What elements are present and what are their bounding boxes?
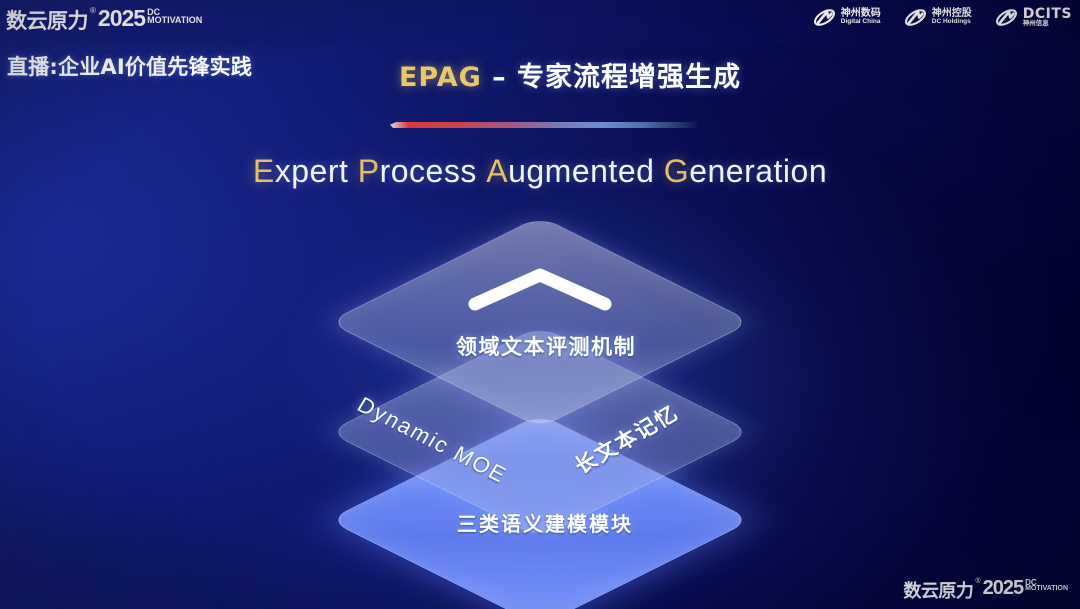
partner-logo-group: 神州数码 Digital China 神州控股 DC Holdings DCIT… <box>812 5 1072 30</box>
partner-name-cn: 神州信息 <box>1023 21 1072 28</box>
subtitle-word-generation: eneration <box>689 153 827 189</box>
swoosh-icon <box>994 5 1019 30</box>
subtitle-word-expert: xpert <box>275 153 349 189</box>
partner-logo-digital-china: 神州数码 Digital China <box>812 5 881 30</box>
brand-year: 2025 <box>983 577 1024 600</box>
diagram-label-bottom: 三类语义建模模块 <box>0 508 1080 537</box>
diagram-label-middle-right: 长文本记忆 <box>568 398 684 480</box>
subtitle-cap-e: E <box>253 153 275 189</box>
partner-text: DCITS 神州信息 <box>1023 7 1072 29</box>
brand-motivation-label: MOTIVATION <box>147 16 202 24</box>
slide-canvas: 数云原力 ® 2025 DC MOTIVATION 直播:企业AI价值先锋实践 … <box>0 0 1080 609</box>
partner-logo-dcits: DCITS 神州信息 <box>994 5 1072 30</box>
brand-logo-bottom: 数云原力 ® 2025 DC MOTIVATION <box>903 577 1068 603</box>
subtitle-cap-g: G <box>664 153 689 189</box>
partner-name-en: Digital China <box>841 19 881 26</box>
partner-name-en: DC Holdings <box>932 19 972 26</box>
partner-text: 神州数码 Digital China <box>841 9 881 26</box>
subtitle-space <box>654 153 663 189</box>
diagram-label-middle-left: Dynamic MOE <box>353 392 512 489</box>
brand-registered-mark: ® <box>90 6 96 15</box>
diagram-label-top: 领域文本评测机制 <box>0 331 1080 361</box>
subtitle-english: Expert Process Augmented Generation <box>0 153 1080 190</box>
page-title: EPAG – 专家流程增强生成 <box>0 55 1080 94</box>
partner-text: 神州控股 DC Holdings <box>932 9 972 26</box>
brand-name-cn: 数云原力 <box>903 577 973 603</box>
subtitle-space <box>477 153 486 189</box>
diagram-layer-top <box>328 216 752 428</box>
swoosh-icon <box>812 5 837 30</box>
subtitle-cap-p: P <box>358 153 380 189</box>
partner-logo-dc-holdings: 神州控股 DC Holdings <box>903 5 972 30</box>
diagram-layer-middle <box>328 326 752 538</box>
subtitle-word-process: rocess <box>380 153 477 189</box>
subtitle-word-augmented: ugmented <box>508 153 654 189</box>
diagram-layer-bottom <box>328 414 752 609</box>
brand-year: 2025 <box>98 5 145 32</box>
brand-logo-top: 数云原力 ® 2025 DC MOTIVATION <box>6 5 202 35</box>
swoosh-icon <box>903 5 928 30</box>
brand-registered-mark: ® <box>975 578 980 585</box>
subtitle-cap-a: A <box>486 153 508 189</box>
gradient-divider <box>390 122 700 128</box>
brand-name-cn: 数云原力 <box>6 5 88 35</box>
page-title-accent: EPAG <box>399 62 482 93</box>
page-title-rest: – 专家流程增强生成 <box>482 62 741 93</box>
brand-dc-motivation: DC MOTIVATION <box>1025 579 1068 593</box>
brand-dc-motivation: DC MOTIVATION <box>147 8 202 25</box>
subtitle-space <box>348 153 357 189</box>
brand-motivation-label: MOTIVATION <box>1025 586 1068 592</box>
stack-glow <box>290 452 790 582</box>
chevron-up-icon <box>466 266 614 312</box>
